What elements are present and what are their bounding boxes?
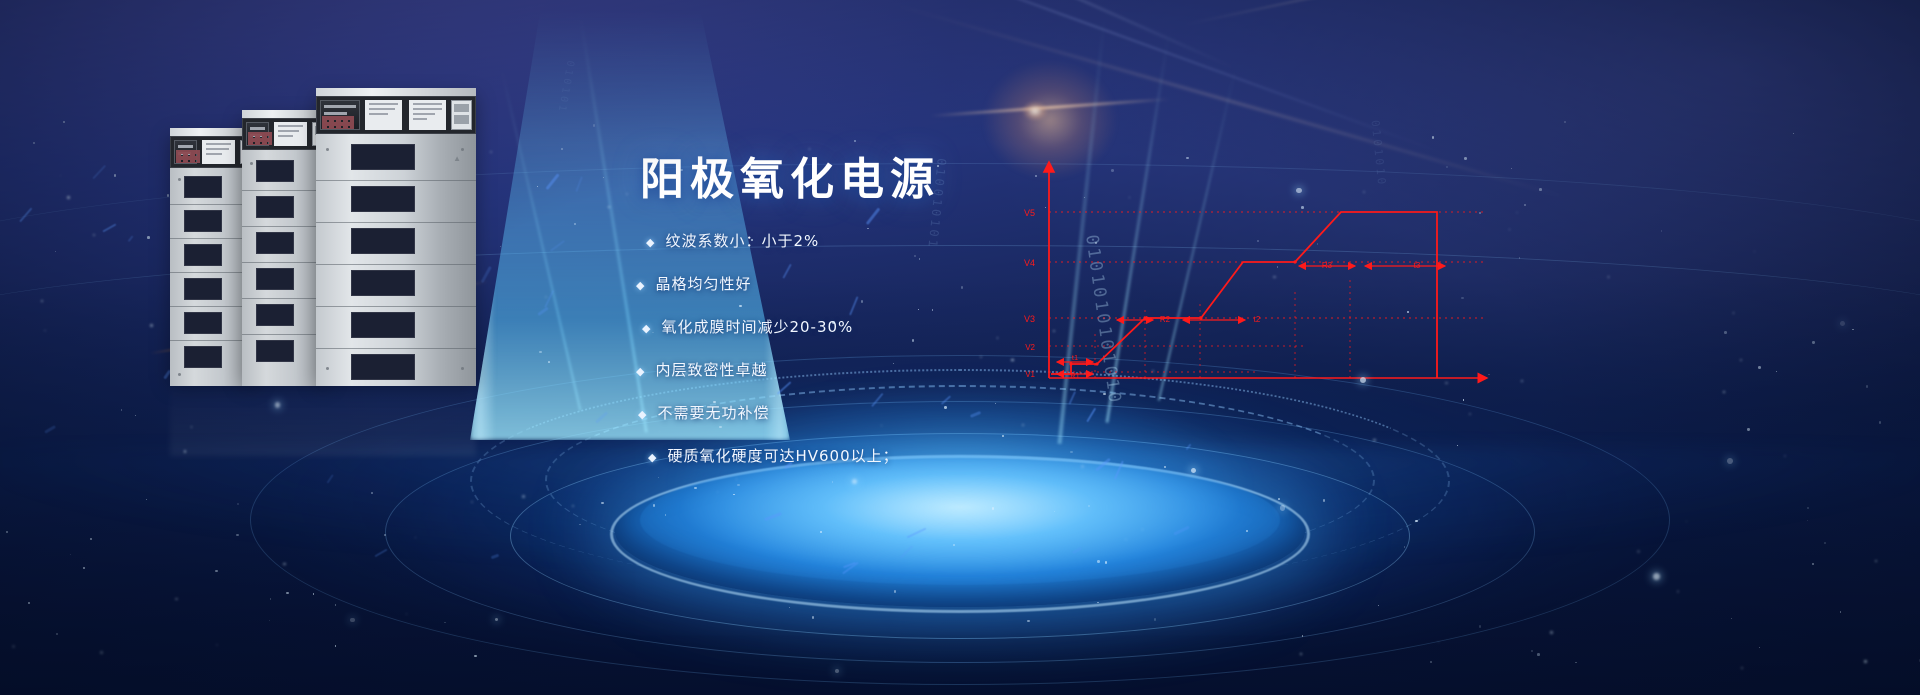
cabinet-front: ▲ [316, 96, 476, 386]
cabinet-meter-icon [451, 100, 472, 130]
equipment-cabinets: ▲ [170, 86, 476, 386]
cabinet-nameplate [365, 100, 402, 130]
cabinet-keypad-icon [176, 150, 200, 163]
cabinet-nameplate [274, 122, 306, 146]
cabinet-nameplate [409, 100, 446, 130]
cabinet-control-panel [316, 96, 476, 134]
cabinet-keypad-icon [248, 132, 272, 145]
banner-stage: ▲ 01010101010101 0101010101010 010010101… [0, 0, 1920, 695]
cabinet-keypad-icon [322, 116, 354, 129]
cabinet-body [316, 134, 476, 386]
cabinet-brand-mark-icon: ▲ [453, 154, 462, 163]
cabinet-nameplate [202, 140, 234, 164]
